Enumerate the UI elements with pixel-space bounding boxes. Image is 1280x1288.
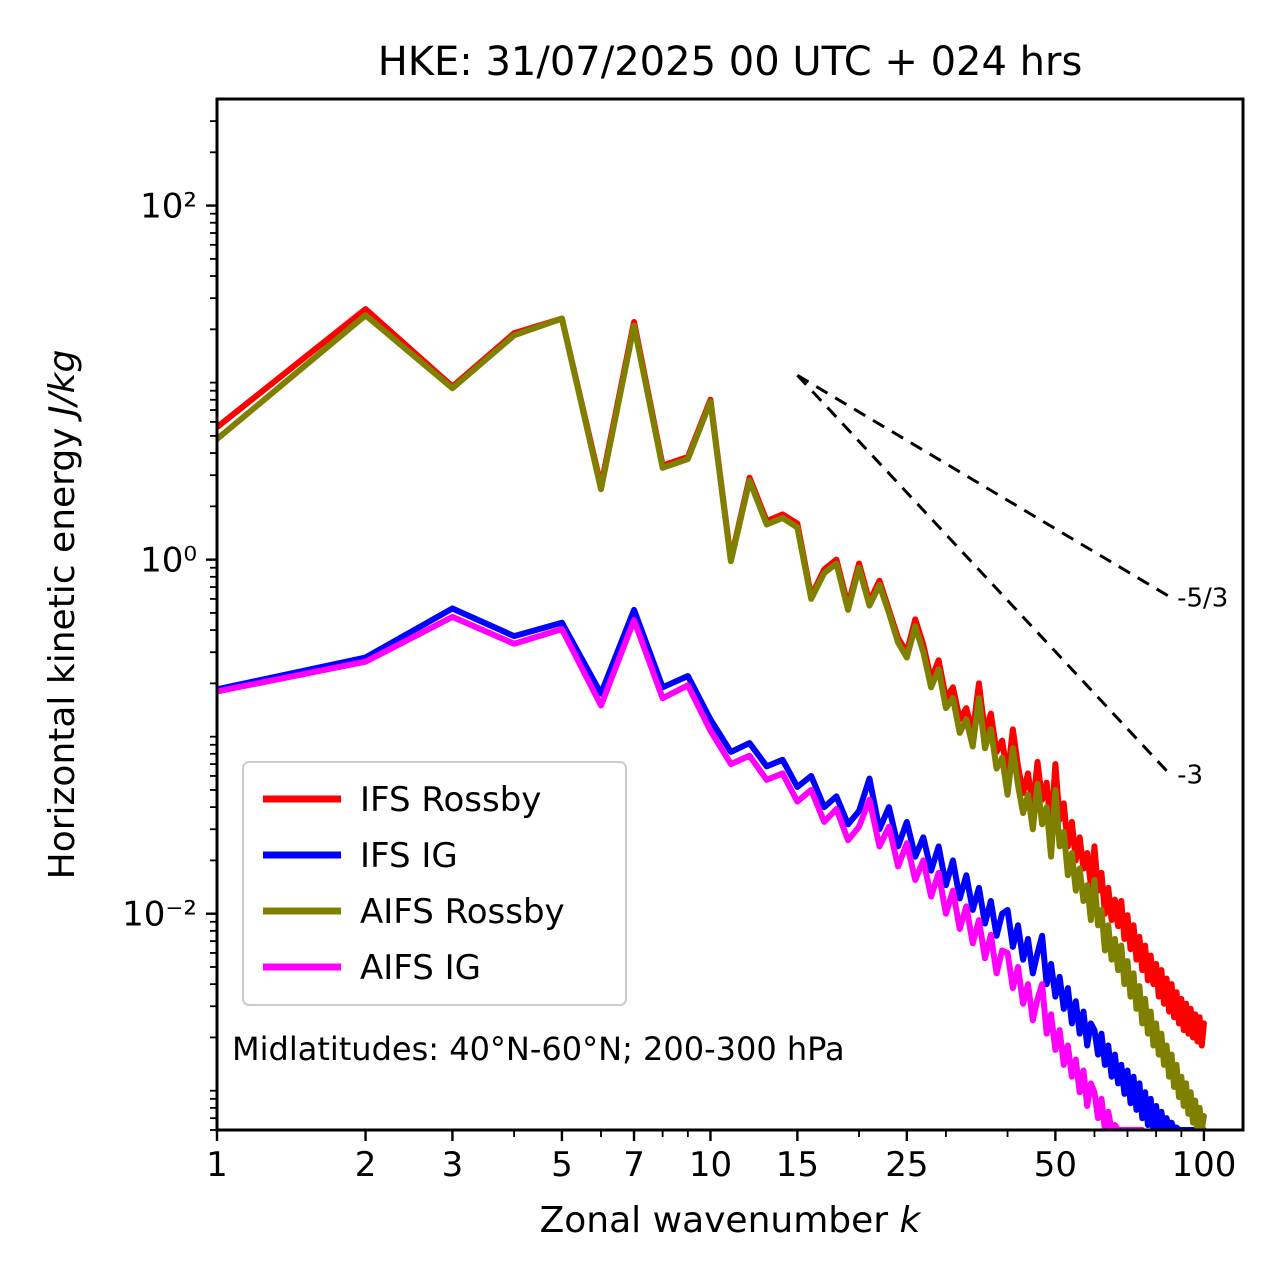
x-tick-label-50: 50 — [1034, 1145, 1077, 1185]
legend-label-ifs-rossby: IFS Rossby — [360, 780, 541, 820]
x-tick-label-3: 3 — [442, 1145, 464, 1185]
x-tick-label-2: 2 — [355, 1145, 377, 1185]
y-tick-label-1: 10⁰ — [140, 541, 197, 581]
legend-label-aifs-ig: AIFS IG — [360, 948, 481, 988]
region-annotation: Midlatitudes: 40°N-60°N; 200-300 hPa — [232, 1030, 845, 1068]
figure: HKE: 31/07/2025 00 UTC + 024 hrs-5/3-312… — [0, 0, 1280, 1288]
chart-title: HKE: 31/07/2025 00 UTC + 024 hrs — [378, 39, 1083, 85]
x-tick-label-25: 25 — [885, 1145, 928, 1185]
reference-line-label--5-3: -5/3 — [1177, 583, 1228, 613]
y-tick-label-0: 10² — [140, 187, 197, 227]
x-tick-label-1: 1 — [206, 1145, 228, 1185]
x-tick-label-5: 5 — [551, 1145, 573, 1185]
y-axis-label: Horizontal kinetic energy J/kg — [42, 350, 83, 880]
hke-spectrum-chart: HKE: 31/07/2025 00 UTC + 024 hrs-5/3-312… — [0, 0, 1280, 1288]
legend-label-aifs-rossby: AIFS Rossby — [360, 892, 565, 932]
x-tick-label-10: 10 — [689, 1145, 732, 1185]
x-tick-label-15: 15 — [776, 1145, 819, 1185]
y-tick-label-2: 10⁻² — [122, 895, 197, 935]
x-axis-label: Zonal wavenumber k — [540, 1200, 923, 1241]
x-tick-label-7: 7 — [623, 1145, 645, 1185]
reference-line-label--3: -3 — [1177, 760, 1203, 790]
x-tick-label-100: 100 — [1171, 1145, 1236, 1185]
legend-label-ifs-ig: IFS IG — [360, 836, 458, 876]
